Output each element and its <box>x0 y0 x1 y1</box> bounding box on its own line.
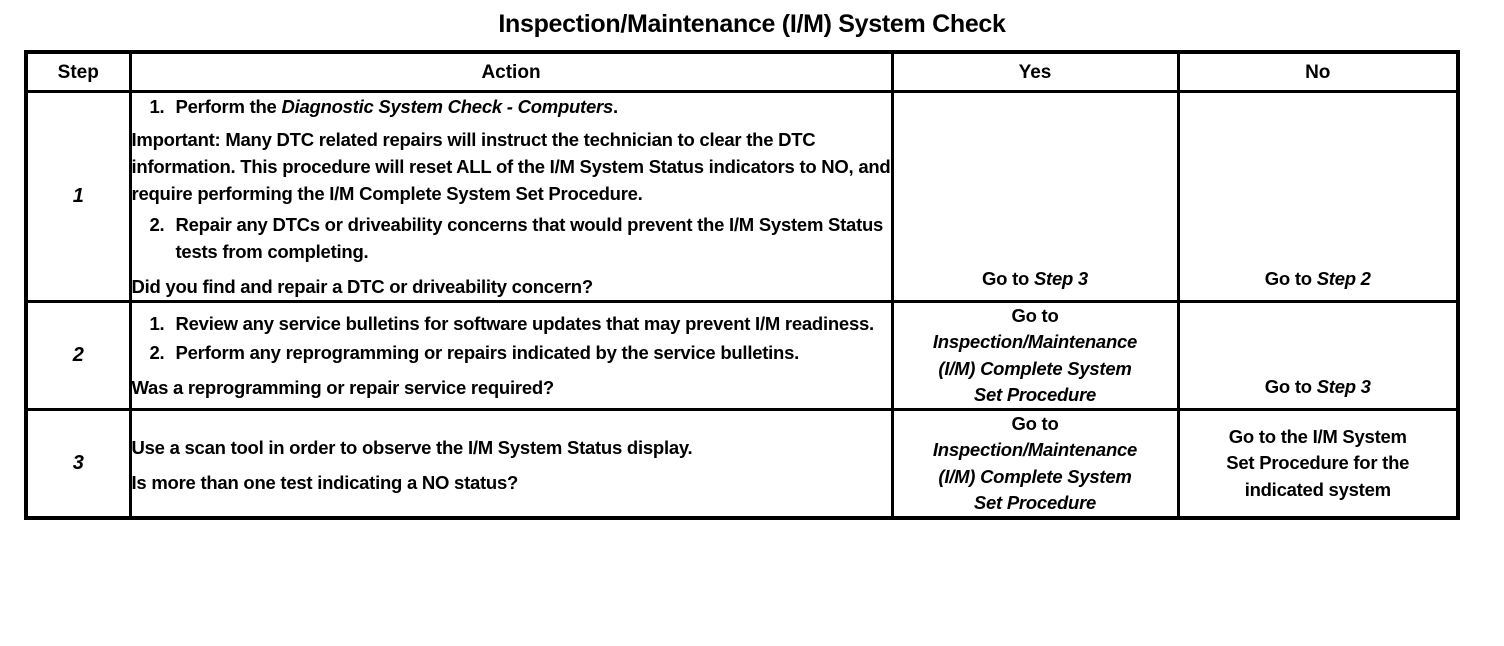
list-item-number: 1. <box>150 93 176 120</box>
action-cell: 1. Review any service bulletins for soft… <box>130 302 892 410</box>
yes-answer-cell: Go to Step 3 <box>892 92 1178 302</box>
yes-answer-cell: Go to Inspection/Maintenance (I/M) Compl… <box>892 302 1178 410</box>
action-list-item: 1. Perform the Diagnostic System Check -… <box>132 93 891 120</box>
action-question: Is more than one test indicating a NO st… <box>132 469 891 496</box>
goto-label: Go to <box>894 411 1177 437</box>
step-reference: Step 3 <box>1317 376 1371 397</box>
step-number: 1 <box>26 92 130 302</box>
procedure-reference-line: (I/M) Complete System <box>894 464 1177 490</box>
column-header-yes: Yes <box>892 52 1178 92</box>
column-header-step: Step <box>26 52 130 92</box>
header-row: Step Action Yes No <box>26 52 1458 92</box>
action-list-item: 1. Review any service bulletins for soft… <box>132 310 891 337</box>
action-text-trail: . <box>613 96 618 117</box>
important-label: Important: <box>132 129 221 150</box>
table-body: 1 1. Perform the Diagnostic System Check… <box>26 92 1458 519</box>
list-item-text: Perform the Diagnostic System Check - Co… <box>176 93 891 120</box>
no-answer-line: Go to the I/M System <box>1180 424 1457 450</box>
no-answer-cell: Go to Step 3 <box>1178 302 1458 410</box>
goto-label: Go to <box>982 268 1034 289</box>
no-answer-cell: Go to Step 2 <box>1178 92 1458 302</box>
column-header-no: No <box>1178 52 1458 92</box>
procedure-reference-line: Inspection/Maintenance <box>894 437 1177 463</box>
page-title: Inspection/Maintenance (I/M) System Chec… <box>0 10 1504 39</box>
table-row: 3 Use a scan tool in order to observe th… <box>26 410 1458 519</box>
step-number: 3 <box>26 410 130 519</box>
column-header-action: Action <box>130 52 892 92</box>
procedure-reference-line: Set Procedure <box>894 382 1177 408</box>
step-reference: Step 3 <box>1034 268 1088 289</box>
diagnostic-table: Step Action Yes No 1 1. Perform the Diag… <box>24 50 1460 520</box>
goto-label: Go to <box>894 303 1177 329</box>
document-page: Inspection/Maintenance (I/M) System Chec… <box>0 0 1504 646</box>
action-question: Was a reprogramming or repair service re… <box>132 374 891 401</box>
no-answer-cell: Go to the I/M System Set Procedure for t… <box>1178 410 1458 519</box>
no-answer-line: indicated system <box>1180 477 1457 503</box>
table-row: 2 1. Review any service bulletins for so… <box>26 302 1458 410</box>
table-header: Step Action Yes No <box>26 52 1458 92</box>
action-statement: Use a scan tool in order to observe the … <box>132 434 891 461</box>
list-item-text: Review any service bulletins for softwar… <box>176 310 891 337</box>
step-reference: Step 2 <box>1317 268 1371 289</box>
list-item-number: 2. <box>150 211 176 238</box>
action-list-item: 2. Perform any reprogramming or repairs … <box>132 339 891 366</box>
list-item-number: 2. <box>150 339 176 366</box>
procedure-reference-line: Set Procedure <box>894 490 1177 516</box>
goto-label: Go to <box>1265 268 1317 289</box>
action-text-lead: Perform the <box>176 96 282 117</box>
procedure-reference-line: (I/M) Complete System <box>894 356 1177 382</box>
action-question: Did you find and repair a DTC or driveab… <box>132 273 891 300</box>
action-list-item: 2. Repair any DTCs or driveability conce… <box>132 211 891 265</box>
important-note: Important: Many DTC related repairs will… <box>132 126 891 207</box>
action-cell: 1. Perform the Diagnostic System Check -… <box>130 92 892 302</box>
action-cell: Use a scan tool in order to observe the … <box>130 410 892 519</box>
procedure-reference-line: Inspection/Maintenance <box>894 329 1177 355</box>
list-item-number: 1. <box>150 310 176 337</box>
list-item-text: Perform any reprogramming or repairs ind… <box>176 339 891 366</box>
step-number: 2 <box>26 302 130 410</box>
goto-label: Go to <box>1265 376 1317 397</box>
yes-answer-cell: Go to Inspection/Maintenance (I/M) Compl… <box>892 410 1178 519</box>
table-row: 1 1. Perform the Diagnostic System Check… <box>26 92 1458 302</box>
procedure-reference: Diagnostic System Check - Computers <box>281 96 613 117</box>
no-answer-line: Set Procedure for the <box>1180 450 1457 476</box>
important-text: Many DTC related repairs will instruct t… <box>132 129 891 204</box>
list-item-text: Repair any DTCs or driveability concerns… <box>176 211 891 265</box>
